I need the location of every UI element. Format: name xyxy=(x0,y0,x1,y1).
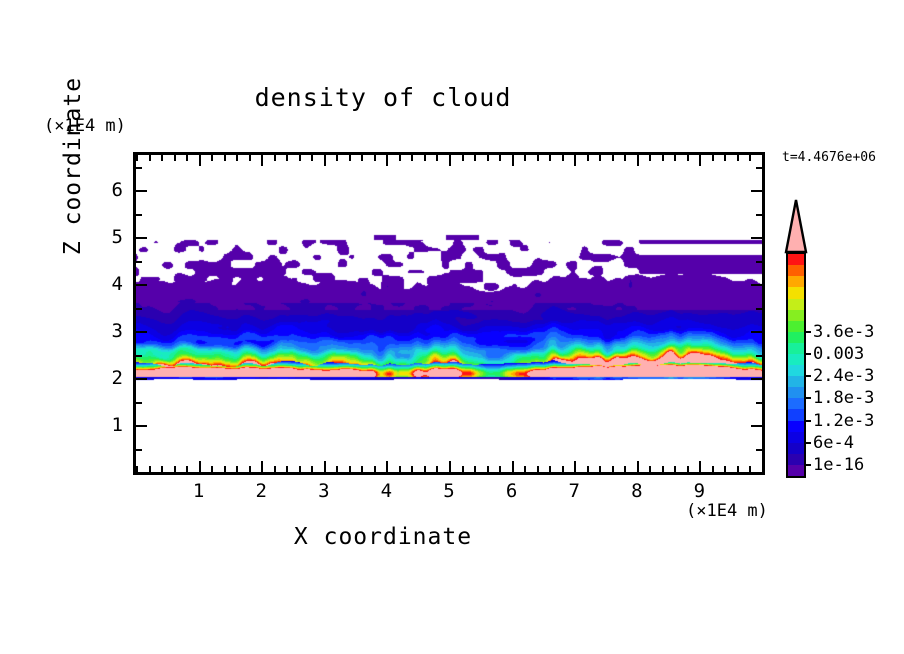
x-tick-top xyxy=(186,155,188,161)
x-tick-bottom xyxy=(161,466,163,472)
x-tick-bottom xyxy=(724,466,726,472)
x-tick-label: 1 xyxy=(187,480,211,502)
x-tick-bottom xyxy=(374,466,376,472)
y-tick-label: 3 xyxy=(105,320,123,342)
x-tick-bottom xyxy=(474,466,476,472)
x-tick-bottom xyxy=(336,466,338,472)
x-tick-top xyxy=(199,155,201,166)
colorbar-tick-label: 0.003 xyxy=(813,344,864,364)
y-tick-left xyxy=(136,425,147,427)
x-tick-bottom xyxy=(587,466,589,472)
colorbar-tick-label: 1e-16 xyxy=(813,455,864,475)
x-tick-bottom xyxy=(524,466,526,472)
x-tick-bottom xyxy=(599,466,601,472)
x-tick-top xyxy=(574,155,576,166)
x-tick-label: 6 xyxy=(500,480,524,502)
x-tick-label: 9 xyxy=(687,480,711,502)
x-tick-bottom xyxy=(349,466,351,472)
colorbar-tick xyxy=(806,375,811,377)
y-tick-label: 6 xyxy=(105,179,123,201)
x-tick-top xyxy=(136,155,138,161)
x-tick-top xyxy=(649,155,651,161)
y-tick-left xyxy=(136,167,142,169)
x-tick-bottom xyxy=(687,466,689,472)
x-tick-bottom xyxy=(386,461,388,472)
x-tick-top xyxy=(424,155,426,161)
x-tick-top xyxy=(224,155,226,161)
x-tick-top xyxy=(674,155,676,161)
x-tick-top xyxy=(324,155,326,166)
x-tick-top xyxy=(687,155,689,161)
x-tick-top xyxy=(211,155,213,161)
x-tick-top xyxy=(336,155,338,161)
x-tick-bottom xyxy=(149,466,151,472)
colorbar-tick xyxy=(806,331,811,333)
x-tick-top xyxy=(361,155,363,161)
x-tick-bottom xyxy=(449,461,451,472)
x-tick-top xyxy=(349,155,351,161)
x-tick-top xyxy=(299,155,301,161)
y-tick-left xyxy=(136,449,142,451)
x-tick-top xyxy=(749,155,751,161)
y-tick-right xyxy=(756,355,762,357)
x-tick-bottom xyxy=(249,466,251,472)
y-tick-right xyxy=(756,402,762,404)
x-tick-bottom xyxy=(462,466,464,472)
contour-field xyxy=(136,155,762,472)
x-tick-top xyxy=(512,155,514,166)
x-tick-top xyxy=(762,155,764,161)
x-tick-top xyxy=(286,155,288,161)
x-tick-top xyxy=(449,155,451,166)
x-tick-top xyxy=(249,155,251,161)
x-tick-bottom xyxy=(174,466,176,472)
x-tick-top xyxy=(699,155,701,166)
y-axis-title: Z coordinate xyxy=(60,76,86,256)
colorbar-tick xyxy=(806,442,811,444)
x-tick-label: 2 xyxy=(249,480,273,502)
x-tick-bottom xyxy=(399,466,401,472)
x-tick-label: 4 xyxy=(374,480,398,502)
x-tick-bottom xyxy=(274,466,276,472)
page-title: density of cloud xyxy=(0,83,766,112)
x-tick-bottom xyxy=(749,466,751,472)
x-tick-bottom xyxy=(699,461,701,472)
y-tick-right xyxy=(756,308,762,310)
x-tick-bottom xyxy=(499,466,501,472)
x-tick-top xyxy=(549,155,551,161)
x-tick-bottom xyxy=(637,461,639,472)
x-tick-bottom xyxy=(411,466,413,472)
y-tick-left xyxy=(136,378,147,380)
colorbar-tick-label: 1.8e-3 xyxy=(813,388,874,408)
x-tick-top xyxy=(261,155,263,166)
colorbar-tick-label: 3.6e-3 xyxy=(813,322,874,342)
x-tick-top xyxy=(537,155,539,161)
x-tick-bottom xyxy=(712,466,714,472)
x-tick-bottom xyxy=(311,466,313,472)
y-tick-right xyxy=(751,331,762,333)
x-tick-top xyxy=(386,155,388,166)
y-tick-right xyxy=(751,237,762,239)
x-tick-bottom xyxy=(737,466,739,472)
y-tick-label: 4 xyxy=(105,273,123,295)
x-tick-bottom xyxy=(762,466,764,472)
colorbar-tick xyxy=(806,397,811,399)
y-tick-right xyxy=(756,261,762,263)
x-tick-bottom xyxy=(361,466,363,472)
x-tick-bottom xyxy=(487,466,489,472)
x-tick-bottom xyxy=(211,466,213,472)
colorbar-tick xyxy=(806,420,811,422)
y-tick-right xyxy=(756,214,762,216)
x-tick-top xyxy=(236,155,238,161)
x-tick-top xyxy=(487,155,489,161)
x-tick-bottom xyxy=(236,466,238,472)
y-tick-left xyxy=(136,402,142,404)
y-tick-label: 5 xyxy=(105,226,123,248)
x-tick-top xyxy=(499,155,501,161)
x-tick-top xyxy=(374,155,376,161)
x-tick-bottom xyxy=(286,466,288,472)
x-axis-unit-label: (×1E4 m) xyxy=(686,501,768,521)
x-tick-top xyxy=(161,155,163,161)
x-tick-bottom xyxy=(512,461,514,472)
y-tick-right xyxy=(756,167,762,169)
x-tick-bottom xyxy=(261,461,263,472)
x-tick-top xyxy=(149,155,151,161)
x-tick-top xyxy=(737,155,739,161)
y-tick-right xyxy=(756,472,762,474)
x-tick-bottom xyxy=(562,466,564,472)
x-tick-top xyxy=(274,155,276,161)
x-tick-top xyxy=(399,155,401,161)
x-axis-title: X coordinate xyxy=(0,524,766,550)
x-tick-label: 8 xyxy=(625,480,649,502)
x-tick-bottom xyxy=(674,466,676,472)
x-tick-bottom xyxy=(624,466,626,472)
y-tick-right xyxy=(751,190,762,192)
x-tick-top xyxy=(174,155,176,161)
x-tick-bottom xyxy=(662,466,664,472)
y-tick-label: 1 xyxy=(105,414,123,436)
x-tick-bottom xyxy=(649,466,651,472)
y-tick-left xyxy=(136,308,142,310)
y-tick-left xyxy=(136,355,142,357)
y-tick-right xyxy=(751,425,762,427)
x-tick-bottom xyxy=(537,466,539,472)
colorbar-tick-label: 1.2e-3 xyxy=(813,411,874,431)
x-tick-bottom xyxy=(549,466,551,472)
x-tick-bottom xyxy=(574,461,576,472)
colorbar-tick xyxy=(806,353,811,355)
y-tick-left xyxy=(136,214,142,216)
x-tick-label: 5 xyxy=(437,480,461,502)
y-tick-left xyxy=(136,261,142,263)
y-tick-left xyxy=(136,331,147,333)
x-tick-top xyxy=(637,155,639,166)
colorbar-tick-label: 6e-4 xyxy=(813,433,854,453)
y-tick-right xyxy=(756,449,762,451)
y-tick-right xyxy=(751,284,762,286)
x-tick-top xyxy=(562,155,564,161)
x-tick-bottom xyxy=(424,466,426,472)
colorbar-label-layer: 3.6e-30.0032.4e-31.8e-31.2e-36e-41e-16 xyxy=(783,0,904,654)
y-tick-left xyxy=(136,284,147,286)
x-tick-bottom xyxy=(436,466,438,472)
x-tick-top xyxy=(411,155,413,161)
x-tick-top xyxy=(624,155,626,161)
y-tick-label: 2 xyxy=(105,367,123,389)
y-tick-left xyxy=(136,472,142,474)
x-tick-bottom xyxy=(299,466,301,472)
x-tick-top xyxy=(462,155,464,161)
x-tick-bottom xyxy=(324,461,326,472)
x-tick-top xyxy=(474,155,476,161)
x-tick-top xyxy=(599,155,601,161)
x-tick-bottom xyxy=(224,466,226,472)
x-tick-label: 3 xyxy=(312,480,336,502)
x-tick-top xyxy=(524,155,526,161)
x-tick-top xyxy=(311,155,313,161)
x-tick-top xyxy=(612,155,614,161)
x-tick-top xyxy=(587,155,589,161)
x-tick-bottom xyxy=(612,466,614,472)
colorbar-tick-label: 2.4e-3 xyxy=(813,366,874,386)
x-tick-label: 7 xyxy=(562,480,586,502)
x-tick-top xyxy=(662,155,664,161)
x-tick-bottom xyxy=(186,466,188,472)
y-tick-right xyxy=(751,378,762,380)
x-tick-top xyxy=(712,155,714,161)
x-tick-top xyxy=(436,155,438,161)
contour-plot-area xyxy=(133,152,765,475)
colorbar-tick xyxy=(806,464,811,466)
x-tick-top xyxy=(724,155,726,161)
y-tick-left xyxy=(136,237,147,239)
x-tick-bottom xyxy=(199,461,201,472)
y-tick-left xyxy=(136,190,147,192)
